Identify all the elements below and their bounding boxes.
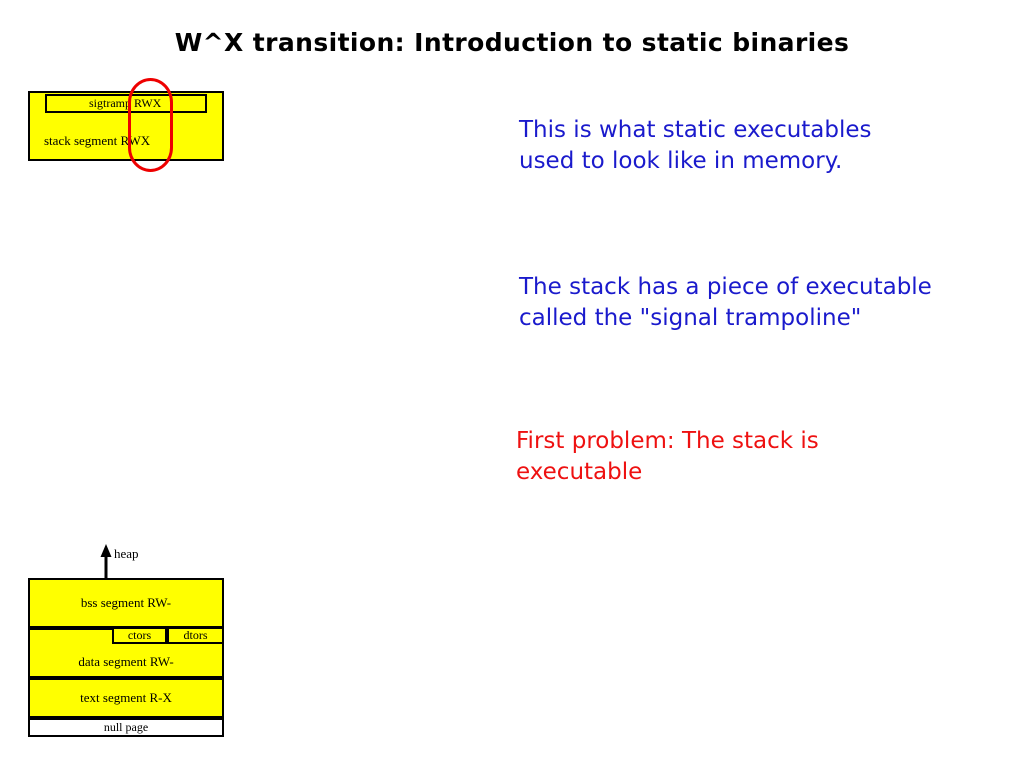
data-segment-label: data segment RW- bbox=[78, 654, 173, 670]
ctors-label: ctors bbox=[128, 628, 151, 643]
dtors-label: dtors bbox=[184, 628, 208, 643]
memory-layout-diagram: heap bss segment RW- data segment RW- ct… bbox=[28, 540, 224, 740]
bss-segment-label: bss segment RW- bbox=[81, 595, 171, 611]
null-page-block: null page bbox=[28, 718, 224, 737]
null-page-label: null page bbox=[104, 720, 148, 735]
rwx-highlight-oval-icon bbox=[128, 78, 173, 172]
note-signal-trampoline: The stack has a piece of executable call… bbox=[519, 272, 1024, 334]
text-segment-label: text segment R-X bbox=[80, 690, 172, 706]
page-title: W^X transition: Introduction to static b… bbox=[0, 28, 1024, 57]
dtors-block: dtors bbox=[167, 627, 224, 644]
text-segment-block: text segment R-X bbox=[28, 678, 224, 718]
heap-growth-indicator: heap bbox=[98, 543, 218, 579]
note-intro: This is what static executables used to … bbox=[519, 115, 1019, 177]
ctors-block: ctors bbox=[112, 627, 167, 644]
note-first-problem: First problem: The stack is executable bbox=[516, 426, 986, 488]
bss-segment-block: bss segment RW- bbox=[28, 578, 224, 628]
heap-label: heap bbox=[114, 546, 139, 562]
sigtramp-block: sigtramp RWX bbox=[45, 94, 207, 113]
stack-diagram: stack segment RWX sigtramp RWX bbox=[28, 91, 224, 161]
